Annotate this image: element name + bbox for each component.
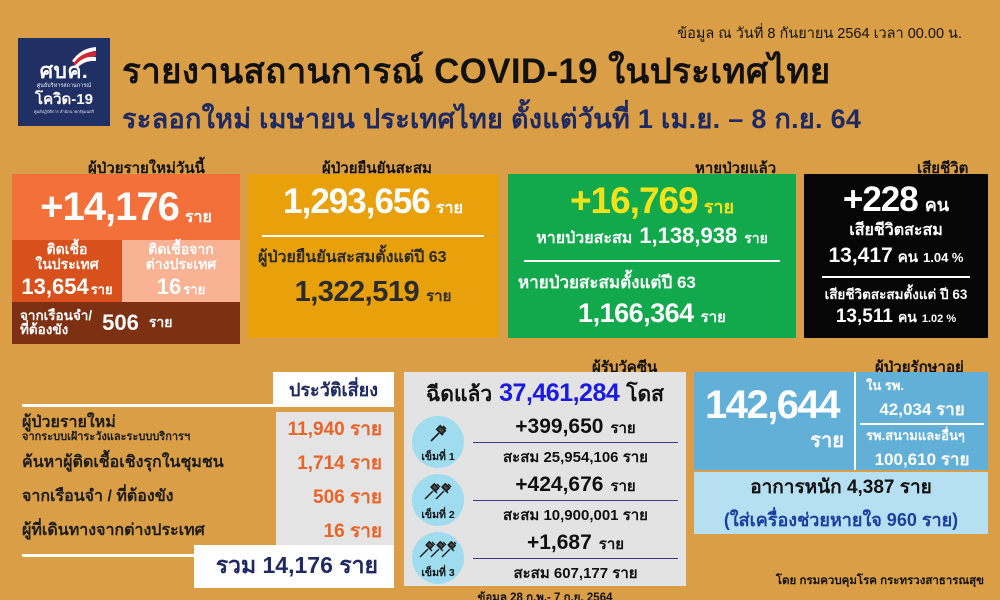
severe-count: อาการหนัก 4,387 ราย xyxy=(750,472,932,502)
treatment-unit: ราย xyxy=(810,424,844,456)
recovered-acc-value: 1,138,938 xyxy=(639,223,737,249)
risk-row-value: 1,714 ราย xyxy=(276,446,394,481)
logo-line-3: โควิด-19 xyxy=(35,92,93,109)
prison-value: 506 xyxy=(102,310,139,336)
treatment-field-label: รพ.สนามและอื่นๆ xyxy=(866,425,965,446)
foreign-value: 16 xyxy=(157,274,181,300)
treatment-field-hospital: รพ.สนามและอื่นๆ 100,610 ราย xyxy=(860,423,984,473)
new-cases-foreign: ติดเชื้อจาก ต่างประเทศ 16 ราย xyxy=(122,240,240,302)
treatment-panel: 142,644 ราย ใน รพ. 42,034 ราย รพ.สนามและ… xyxy=(694,372,988,568)
risk-row: ผู้ป่วยรายใหม่ จากระบบเฝ้าระวังและระบบบร… xyxy=(22,412,394,446)
dose3-accumulated: สะสม 607,177 ราย xyxy=(473,561,678,585)
dose1-accumulated: สะสม 25,954,106 ราย xyxy=(473,445,678,469)
syringe-3-caption: เข็มที่ 3 xyxy=(421,564,454,581)
vaccine-panel: ฉีดแล้ว 37,461,284 โดส เข็มที่ 1 +399,65… xyxy=(404,372,686,586)
vaccine-dose-row: เข็มที่ 1 +399,650 ราย สะสม 25,954,106 ร… xyxy=(412,415,678,469)
new-cases-unit: ราย xyxy=(185,205,212,230)
risk-row-label: ค้นหาผู้ติดเชื้อเชิงรุกในชุมชน xyxy=(22,455,224,472)
risk-top-divider xyxy=(22,404,276,407)
dose1-new-unit: ราย xyxy=(610,416,635,440)
new-cases-breakdown: ติดเชื้อ ในประเทศ 13,654 ราย ติดเชื้อจาก… xyxy=(12,240,240,302)
risk-row-label: ผู้ป่วยรายใหม่ xyxy=(22,415,190,432)
dose2-accumulated: สะสม 10,900,001 ราย xyxy=(473,503,678,527)
deaths-divider xyxy=(822,276,970,278)
recovered-divider xyxy=(524,260,780,262)
treatment-hospital-label: ใน รพ. xyxy=(866,375,904,396)
recovered-acc-label: หายป่วยสะสม xyxy=(536,226,632,251)
deaths-acc-label: เสียชีวิตสะสม xyxy=(812,218,980,243)
new-cases-value: +14,176 xyxy=(40,185,179,230)
syringe-1-caption: เข็มที่ 1 xyxy=(421,448,454,465)
risk-bottom-divider xyxy=(22,554,199,557)
recovered-unit: ราย xyxy=(704,192,734,221)
vaccine-total-doses: 37,461,284 xyxy=(499,379,619,408)
dose3-new-value: +1,687 xyxy=(527,531,592,555)
cumulative-since63-label: ผู้ป่วยยืนยันสะสมตั้งแต่ปี 63 xyxy=(258,245,488,270)
prison-unit: ราย xyxy=(149,312,173,334)
logo-line-4: ศูนย์ปฏิบัติการ สำนักนายกรัฐมนตรี xyxy=(34,110,94,115)
foreign-unit: ราย xyxy=(183,279,205,300)
risk-row: จากเรือนจำ / ที่ต้องขัง 506 ราย xyxy=(22,480,394,514)
domestic-value: 13,654 xyxy=(21,274,88,300)
ventilator-count: (ใส่เครื่องช่วยหายใจ 960 ราย) xyxy=(724,505,958,534)
domestic-unit: ราย xyxy=(91,279,113,300)
risk-row-value: 11,940 ราย xyxy=(276,412,394,447)
vaccine-dose-row: เข็มที่ 3 +1,687 ราย สะสม 607,177 ราย xyxy=(412,531,678,585)
risk-row-value: 16 ราย xyxy=(276,514,394,549)
cumulative-since63-unit: ราย xyxy=(426,284,451,308)
risk-row-sublabel: จากระบบเฝ้าระวังและระบบบริการฯ xyxy=(22,432,190,444)
deaths-since63-value: 13,511 xyxy=(836,306,893,328)
deaths-acc-percent: 1.04 % xyxy=(923,250,963,265)
page-subtitle: ระลอกใหม่ เมษายน ประเทศไทย ตั้งแต่วันที่… xyxy=(122,97,861,140)
deaths-unit: คน xyxy=(925,190,949,219)
logo-line-2: ศูนย์บริหารสถานการณ์ xyxy=(37,83,92,90)
card-new-cases: +14,176 ราย ติดเชื้อ ในประเทศ 13,654 ราย… xyxy=(12,174,240,344)
cumulative-since63-value: 1,322,519 xyxy=(295,276,420,309)
risk-row-value: 506 ราย xyxy=(276,480,394,515)
domestic-label-line2: ในประเทศ xyxy=(35,257,98,272)
risk-history-header: ประวัติเสี่ยง xyxy=(273,372,394,407)
syringe-1-icon: เข็มที่ 1 xyxy=(412,416,464,468)
vaccine-headline-word: ฉีดแล้ว xyxy=(426,378,492,411)
cumulative-unit: ราย xyxy=(436,196,463,221)
treatment-hospital: ใน รพ. 42,034 ราย xyxy=(860,375,984,423)
syringe-3-icon: เข็มที่ 3 xyxy=(412,532,464,584)
deaths-since63-unit: คน xyxy=(898,307,917,329)
risk-history-rows: ผู้ป่วยรายใหม่ จากระบบเฝ้าระวังและระบบบร… xyxy=(22,412,394,548)
recovered-since63-label: หายป่วยสะสมตั้งแต่ปี 63 xyxy=(518,269,786,296)
treatment-value: 142,644 xyxy=(705,386,839,424)
ccsa-logo: ศบค. ศูนย์บริหารสถานการณ์ โควิด-19 ศูนย์… xyxy=(18,38,110,126)
deaths-acc-unit: คน xyxy=(898,245,918,269)
syringe-2-icon: เข็มที่ 2 xyxy=(412,474,464,526)
card-deaths: +228 คน เสียชีวิตสะสม 13,417 คน 1.04 % เ… xyxy=(804,174,988,338)
new-cases-total: +14,176 ราย xyxy=(12,174,240,240)
recovered-value: +16,769 xyxy=(570,180,698,222)
cumulative-value: 1,293,656 xyxy=(283,182,430,222)
risk-row-label: ผู้ที่เดินทางจากต่างประเทศ xyxy=(22,523,205,540)
dose3-new-unit: ราย xyxy=(599,532,624,556)
deaths-value: +228 xyxy=(843,180,918,220)
treatment-severe: อาการหนัก 4,387 ราย (ใส่เครื่องช่วยหายใจ… xyxy=(694,472,988,534)
page-title: รายงานสถานการณ์ COVID-19 ในประเทศไทย xyxy=(122,44,831,99)
vaccine-as-of: ข้อมูล 28 ก.พ.- 7 ก.ย. 2564 xyxy=(412,589,678,600)
prison-label-line2: ที่ต้องขัง xyxy=(20,323,92,337)
treatment-main: 142,644 ราย ใน รพ. 42,034 ราย รพ.สนามและ… xyxy=(694,372,988,470)
card-cumulative-cases: 1,293,656 ราย ผู้ป่วยยืนยันสะสมตั้งแต่ปี… xyxy=(248,174,498,338)
foreign-label-line2: ต่างประเทศ xyxy=(146,257,217,272)
new-cases-domestic: ติดเชื้อ ในประเทศ 13,654 ราย xyxy=(12,240,122,302)
dose2-new-unit: ราย xyxy=(610,474,635,498)
source-credit: โดย กรมควบคุมโรค กระทรวงสาธารณสุข xyxy=(776,572,984,590)
vaccine-dose-row: เข็มที่ 2 +424,676 ราย สะสม 10,900,001 ร… xyxy=(412,473,678,527)
prison-label-line1: จากเรือนจำ/ xyxy=(20,309,92,323)
infographic-root: ศบค. ศูนย์บริหารสถานการณ์ โควิด-19 ศูนย์… xyxy=(0,0,1000,600)
foreign-label-line1: ติดเชื้อจาก xyxy=(148,242,213,257)
risk-row-label: จากเรือนจำ / ที่ต้องขัง xyxy=(22,489,173,506)
syringe-2-caption: เข็มที่ 2 xyxy=(421,506,454,523)
risk-total: รวม 14,176 ราย xyxy=(194,545,394,588)
thai-flag-swoosh-icon xyxy=(71,46,97,68)
deaths-acc-value: 13,417 xyxy=(828,244,892,268)
recovered-since63-value: 1,166,364 xyxy=(578,298,694,329)
dose1-new-value: +399,650 xyxy=(515,415,603,439)
deaths-since63-percent: 1.02 % xyxy=(922,313,956,325)
recovered-since63-unit: ราย xyxy=(701,305,726,329)
card-recovered: +16,769 ราย หายป่วยสะสม 1,138,938 ราย หา… xyxy=(508,174,796,338)
new-cases-prison: จากเรือนจำ/ ที่ต้องขัง 506 ราย xyxy=(12,302,240,344)
domestic-label-line1: ติดเชื้อ xyxy=(47,242,88,257)
vaccine-headline-unit: โดส xyxy=(626,378,664,411)
recovered-acc-unit: ราย xyxy=(744,228,768,250)
risk-history-panel: ประวัติเสี่ยง ผู้ป่วยรายใหม่ จากระบบเฝ้า… xyxy=(12,372,394,588)
treatment-hospital-value: 42,034 ราย xyxy=(879,396,964,423)
treatment-field-value: 100,610 ราย xyxy=(875,446,970,473)
risk-row: ผู้ที่เดินทางจากต่างประเทศ 16 ราย xyxy=(22,514,394,548)
vaccine-headline: ฉีดแล้ว 37,461,284 โดส xyxy=(412,378,678,411)
risk-row: ค้นหาผู้ติดเชื้อเชิงรุกในชุมชน 1,714 ราย xyxy=(22,446,394,480)
cumulative-divider xyxy=(262,235,484,237)
dose2-new-value: +424,676 xyxy=(515,473,603,497)
deaths-since63-label: เสียชีวิตสะสมตั้งแต่ ปี 63 xyxy=(812,283,980,305)
data-timestamp: ข้อมูล ณ วันที่ 8 กันยายน 2564 เวลา 00.0… xyxy=(677,22,962,45)
